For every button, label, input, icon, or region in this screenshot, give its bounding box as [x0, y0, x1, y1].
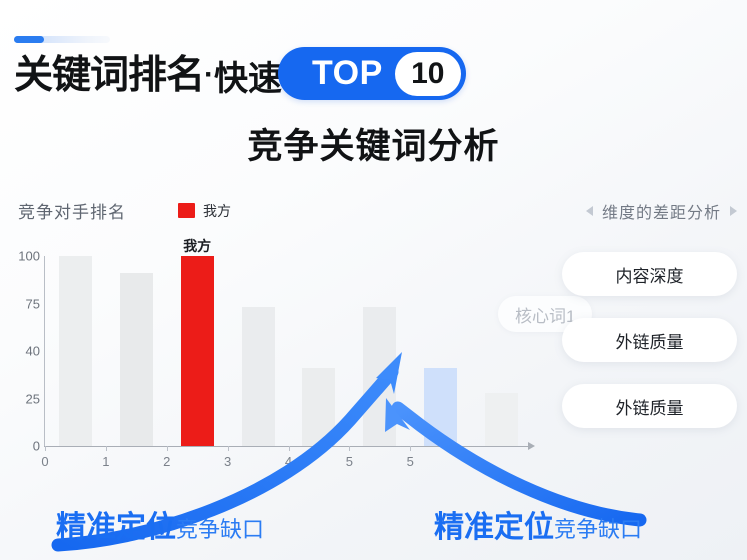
caption-right-strong: 精准定位 [434, 502, 554, 546]
dimension-card[interactable]: 外链质量 [562, 384, 737, 428]
x-tick-mark [45, 446, 46, 451]
caption-right: 精准定位 竞争缺口 [434, 502, 642, 546]
dimension-card-label: 外链质量 [616, 394, 684, 419]
triangle-right-icon[interactable] [730, 206, 737, 216]
x-tick-mark [289, 446, 290, 451]
caption-right-weak: 竞争缺口 [554, 512, 642, 544]
title-suffix: 快速 [214, 51, 282, 100]
dimension-card-label: 外链质量 [616, 328, 684, 353]
x-tick-label: 5 [407, 454, 414, 469]
bar-value-label: 我方 [183, 236, 211, 256]
caption-left-strong: 精准定位 [56, 502, 176, 546]
caption-left: 精准定位 竞争缺口 [56, 502, 264, 546]
top-badge-number: 10 [411, 57, 444, 91]
y-tick-label: 75 [0, 296, 40, 311]
chart-legend: 竞争对手排名 我方 [18, 198, 231, 223]
top-progress-fill [14, 36, 44, 43]
x-tick-mark [410, 446, 411, 451]
dimension-card[interactable]: 外链质量 [562, 318, 737, 362]
dimension-card[interactable]: 内容深度 [562, 252, 737, 296]
dimension-card-list: 内容深度外链质量外链质量 [562, 252, 737, 428]
legend-item-ours[interactable]: 我方 [178, 201, 231, 221]
poster-canvas: TOP 10 关键词排名 · 快速 竞争关键词分析 竞争对手排名 我方 维度的差… [0, 0, 747, 560]
plot-area [45, 256, 532, 446]
triangle-left-icon[interactable] [586, 206, 593, 216]
top-progress-track [14, 36, 110, 43]
bar-competitor[interactable] [120, 273, 153, 446]
page-title: 关键词排名 [14, 56, 204, 95]
bar-gap[interactable] [424, 368, 457, 446]
dimension-card-label: 内容深度 [616, 262, 684, 287]
bar-competitor[interactable] [59, 256, 92, 446]
legend-swatch-icon [178, 203, 195, 218]
legend-item-label: 我方 [203, 201, 231, 221]
caption-left-weak: 竞争缺口 [176, 512, 264, 544]
y-tick-label: 100 [0, 249, 40, 264]
x-tick-label: 1 [102, 454, 109, 469]
x-tick-label: 0 [41, 454, 48, 469]
top-badge-word: TOP [312, 54, 383, 93]
bar-competitor[interactable] [363, 307, 396, 446]
dimension-gap-label: 维度的差距分析 [602, 199, 721, 223]
x-tick-mark [167, 446, 168, 451]
x-tick-mark [349, 446, 350, 451]
top-badge-number-wrap: 10 [395, 52, 461, 96]
x-tick-label: 5 [346, 454, 353, 469]
bar-chart: 1007540250 0123455 我方 [0, 252, 560, 452]
y-tick-label: 0 [0, 439, 40, 454]
y-tick-label: 40 [0, 344, 40, 359]
legend-title: 竞争对手排名 [18, 198, 126, 223]
x-tick-label: 4 [285, 454, 292, 469]
bar-competitor[interactable] [485, 393, 518, 446]
x-tick-mark [106, 446, 107, 451]
x-tick-mark [228, 446, 229, 451]
y-axis-ticks: 1007540250 [0, 252, 40, 446]
y-tick-label: 25 [0, 391, 40, 406]
page-header: 关键词排名 · 快速 [14, 48, 282, 102]
top-rank-badge[interactable]: TOP 10 [278, 47, 466, 100]
bar-competitor[interactable] [242, 307, 275, 446]
x-tick-label: 2 [163, 454, 170, 469]
bar-competitor[interactable] [302, 368, 335, 446]
bar-ours[interactable] [181, 256, 214, 446]
page-subtitle: 竞争关键词分析 [0, 118, 747, 169]
dimension-gap-header: 维度的差距分析 [586, 199, 737, 223]
x-tick-label: 3 [224, 454, 231, 469]
title-separator-dot: · [204, 58, 214, 92]
